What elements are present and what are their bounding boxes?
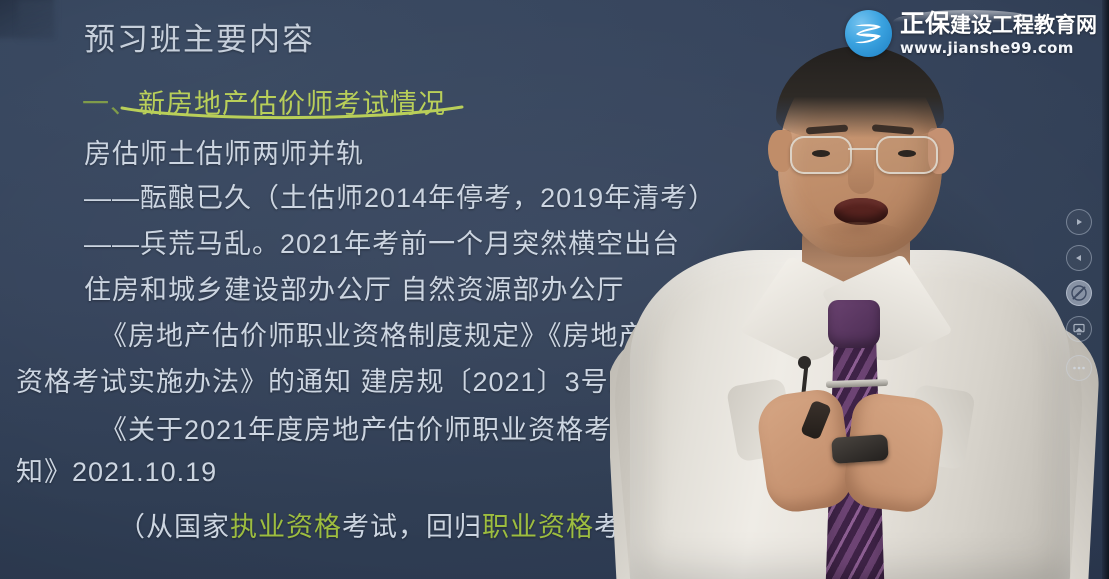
logo-brand-secondary: 建设工程教育网 [950,13,1097,37]
logo-brand-primary: 正保 [900,9,950,38]
presenter-remote-device [831,434,889,464]
presenter-eye-left [812,150,830,157]
final-line-middle: 考试，回归 [342,512,482,542]
no-annotation-icon [1070,284,1088,302]
slide-line-4: 住房和城乡建设部办公厅 自然资源部办公厅 [84,268,625,307]
final-line-highlight-1: 执业资格 [230,512,342,542]
screen-icon [1072,322,1086,336]
logo-text-block: 正保建设工程教育网 www.jianshe99.com [900,11,1097,56]
slide-final-line: （从国家执业资格考试，回归职业资格考试） [118,505,678,544]
player-control-bar [1061,0,1105,579]
screen-button[interactable] [1066,316,1092,342]
slide-line-8: 知》2021.10.19 [16,450,217,489]
logo-mark-icon [845,10,892,57]
presenter-chin-shadow [806,222,910,256]
site-logo[interactable]: 正保建设工程教育网 www.jianshe99.com [839,6,1103,61]
previous-icon [1074,253,1084,263]
page-title: 预习班主要内容 [84,14,315,59]
play-icon [1074,217,1084,227]
presenter-mouth [834,198,888,225]
previous-button[interactable] [1066,245,1092,271]
more-button[interactable] [1066,355,1092,381]
slide-line-3: ——兵荒马乱。2021年考前一个月突然横空出台 [84,222,680,261]
presenter-tie-knot [828,300,880,348]
final-line-prefix: （从国家 [118,512,230,542]
slide-line-6: 资格考试实施办法》的通知 建房规〔2021〕3号2021 [16,360,673,399]
logo-brand-name: 正保建设工程教育网 [900,11,1097,36]
slide-line-1: 房估师土估师两师并轨 [84,132,364,171]
heading-underline-icon [118,104,470,122]
play-button[interactable] [1066,209,1092,235]
presenter-nose [848,150,874,194]
video-lecture-screen: 预习班主要内容 一、新房地产估价师考试情况 房估师土估师两师并轨 ——酝酿已久（… [0,0,1109,579]
z-swoosh-icon [850,19,886,49]
presenter-video [610,0,1109,579]
presenter-eye-right [898,150,916,157]
more-icon [1072,365,1086,371]
logo-url: www.jianshe99.com [900,41,1097,56]
final-line-highlight-2: 职业资格 [482,512,594,542]
no-annotation-button[interactable] [1066,280,1092,306]
